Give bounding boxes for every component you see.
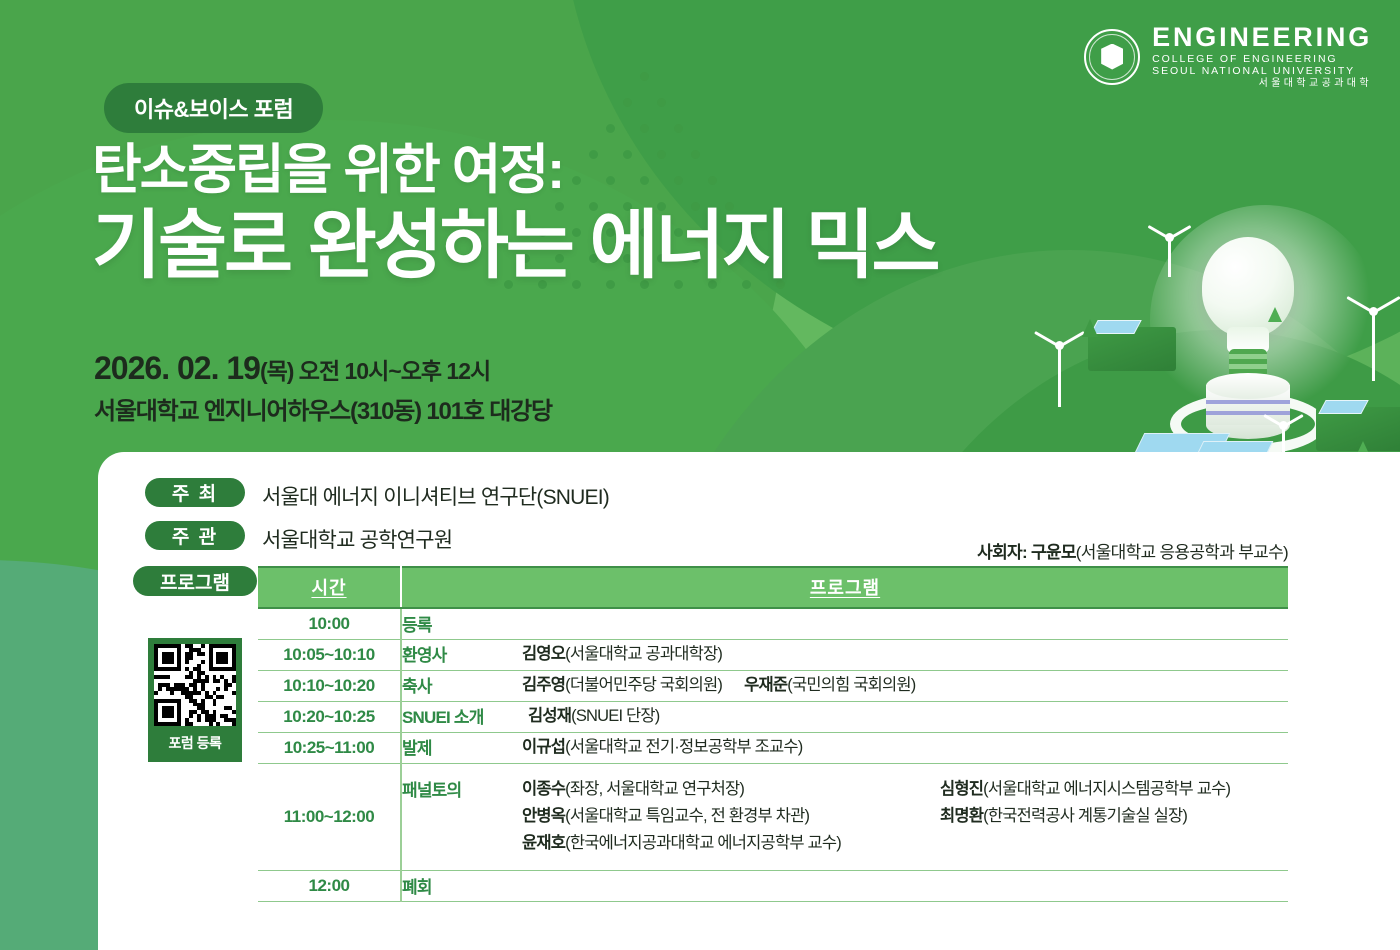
energy-illustration	[1020, 215, 1400, 460]
decorative-dot	[589, 150, 598, 159]
speaker-affiliation: (한국전력공사 계통기술실 실장)	[983, 807, 1187, 825]
speaker-entry: 이종수(좌장, 서울대학교 연구처장)	[522, 776, 940, 803]
speaker-name: 심형진	[940, 780, 983, 798]
decorative-dot	[606, 124, 615, 133]
speaker-affiliation: (더불어민주당 국회의원)	[565, 676, 722, 694]
event-poster: ENGINEERING COLLEGE OF ENGINEERING SEOUL…	[0, 0, 1400, 950]
row-program: 폐회	[401, 870, 1288, 901]
row-category: 폐회	[402, 873, 522, 898]
row-category: 패널토의	[402, 776, 522, 801]
table-row: 10:20~10:25SNUEI 소개김성재(SNUEI 단장)	[258, 701, 1288, 732]
decorative-dot	[674, 176, 683, 185]
header-time-text: 시간	[311, 578, 346, 598]
speaker-entry: 윤재호(한국에너지공과대학교 에너지공학부 교수)	[522, 830, 940, 857]
speaker-entry: 최명환(한국전력공사 계통기술실 실장)	[940, 803, 1288, 830]
program-table-head: 시간 프로그램	[258, 567, 1288, 608]
header-program-text: 프로그램	[810, 578, 880, 598]
speaker-affiliation: (서울대학교 공과대학장)	[565, 645, 722, 663]
row-speakers: 이종수(좌장, 서울대학교 연구처장)안병옥(서울대학교 특임교수, 전 환경부…	[522, 776, 1288, 856]
poster-title-line2: 기술로 완성하는 에너지 믹스	[92, 208, 938, 283]
event-datetime: 2026. 02. 19(목) 오전 10시~오후 12시	[94, 352, 490, 384]
program-label-badge: 프로그램	[133, 566, 257, 596]
speaker-affiliation: (서울대학교 전기·정보공학부 조교수)	[565, 738, 802, 756]
row-time: 12:00	[258, 870, 401, 901]
row-category: 축사	[402, 672, 522, 697]
row-speakers: 김성재(SNUEI 단장)	[528, 703, 1288, 730]
speaker-entry: 김주영(더불어민주당 국회의원)	[522, 672, 722, 699]
speaker-name: 이규섭	[522, 738, 565, 756]
speaker-entry: 이규섭(서울대학교 전기·정보공학부 조교수)	[522, 734, 803, 761]
row-program: 환영사김영오(서울대학교 공과대학장)	[401, 639, 1288, 670]
speaker-affiliation: (좌장, 서울대학교 연구처장)	[565, 780, 744, 798]
battery-container-icon	[1088, 327, 1176, 371]
decorative-dot	[640, 72, 649, 81]
speaker-entry: 우재준(국민의힘 국회의원)	[744, 672, 915, 699]
speaker-entry: 안병옥(서울대학교 특임교수, 전 환경부 차관)	[522, 803, 940, 830]
moderator-line: 사회자: 구윤모(서울대학교 응용공학과 부교수)	[977, 538, 1288, 563]
row-time: 10:00	[258, 608, 401, 639]
speaker-entry: 김영오(서울대학교 공과대학장)	[522, 641, 722, 668]
speaker-affiliation: (서울대학교 에너지시스템공학부 교수)	[983, 780, 1230, 798]
speaker-name: 김성재	[528, 707, 571, 725]
details-panel-filler	[1300, 452, 1400, 950]
speaker-name: 최명환	[940, 807, 983, 825]
decorative-dot	[657, 98, 666, 107]
table-row: 10:10~10:20축사김주영(더불어민주당 국회의원)우재준(국민의힘 국회…	[258, 670, 1288, 701]
qr-label: 포럼 등록	[169, 733, 222, 753]
row-program: 패널토의이종수(좌장, 서울대학교 연구처장)안병옥(서울대학교 특임교수, 전…	[401, 763, 1288, 870]
row-speakers: 김주영(더불어민주당 국회의원)우재준(국민의힘 국회의원)	[522, 672, 1288, 699]
row-speakers: 이규섭(서울대학교 전기·정보공학부 조교수)	[522, 734, 1288, 761]
row-category: SNUEI 소개	[402, 703, 528, 728]
row-time: 11:00~12:00	[258, 763, 401, 870]
row-program: 등록	[401, 608, 1288, 639]
speaker-name: 이종수	[522, 780, 565, 798]
decorative-dot	[572, 176, 581, 185]
moderator-name: 구윤모	[1031, 543, 1076, 562]
speaker-affiliation: (국민의힘 국회의원)	[787, 676, 915, 694]
pedestal-band-upper	[1206, 400, 1290, 404]
row-category: 발제	[402, 734, 522, 759]
table-row: 10:00등록	[258, 608, 1288, 639]
forum-series-badge: 이슈&보이스 포럼	[104, 83, 323, 133]
row-speakers: 김영오(서울대학교 공과대학장)	[522, 641, 1288, 668]
table-header-row: 시간 프로그램	[258, 567, 1288, 608]
row-time: 10:25~11:00	[258, 732, 401, 763]
row-time: 10:10~10:20	[258, 670, 401, 701]
speaker-entry: 김성재(SNUEI 단장)	[528, 703, 660, 730]
university-crest-icon	[1084, 29, 1140, 85]
speaker-entry: 심형진(서울대학교 에너지시스템공학부 교수)	[940, 776, 1288, 803]
decorative-dot	[657, 150, 666, 159]
decorative-dot	[640, 124, 649, 133]
host-label-badge: 주 최	[145, 478, 245, 507]
speaker-name: 안병옥	[522, 807, 565, 825]
table-row: 10:25~11:00발제이규섭(서울대학교 전기·정보공학부 조교수)	[258, 732, 1288, 763]
speaker-name: 우재준	[744, 676, 787, 694]
program-table-body: 10:00등록10:05~10:10환영사김영오(서울대학교 공과대학장)10:…	[258, 608, 1288, 901]
logo-main-text: ENGINEERING	[1152, 24, 1372, 51]
header-program: 프로그램	[401, 567, 1288, 608]
lightbulb-icon	[1202, 237, 1294, 337]
row-category: 환영사	[402, 641, 522, 666]
event-date: 2026. 02. 19	[94, 350, 260, 386]
pedestal-band-lower	[1206, 411, 1290, 415]
tree-icon	[1268, 307, 1282, 322]
row-program: SNUEI 소개김성재(SNUEI 단장)	[401, 701, 1288, 732]
speaker-affiliation: (SNUEI 단장)	[571, 707, 659, 725]
decorative-dot	[606, 176, 615, 185]
program-table: 시간 프로그램 10:00등록10:05~10:10환영사김영오(서울대학교 공…	[258, 566, 1288, 902]
logo-subtitle-en2: SEOUL NATIONAL UNIVERSITY	[1152, 66, 1372, 77]
speaker-affiliation: (서울대학교 특임교수, 전 환경부 차관)	[565, 807, 809, 825]
logo-subtitle-kr: 서울대학교공과대학	[1152, 79, 1372, 89]
registration-qr-block[interactable]: 포럼 등록	[148, 638, 242, 762]
speaker-name: 윤재호	[522, 834, 565, 852]
row-program: 축사김주영(더불어민주당 국회의원)우재준(국민의힘 국회의원)	[401, 670, 1288, 701]
panel-column-right: 심형진(서울대학교 에너지시스템공학부 교수)최명환(한국전력공사 계통기술실 …	[940, 776, 1288, 856]
panel-column-left: 이종수(좌장, 서울대학교 연구처장)안병옥(서울대학교 특임교수, 전 환경부…	[522, 776, 940, 856]
table-row: 11:00~12:00패널토의이종수(좌장, 서울대학교 연구처장)안병옥(서울…	[258, 763, 1288, 870]
decorative-dot	[674, 124, 683, 133]
header-time: 시간	[258, 567, 401, 608]
poster-title-line1: 탄소중립을 위한 여정:	[92, 143, 563, 197]
row-category: 등록	[402, 611, 522, 636]
row-time: 10:05~10:10	[258, 639, 401, 670]
decorative-dot	[623, 150, 632, 159]
row-program: 발제이규섭(서울대학교 전기·정보공학부 조교수)	[401, 732, 1288, 763]
qr-code-icon[interactable]	[154, 644, 236, 726]
speaker-affiliation: (한국에너지공과대학교 에너지공학부 교수)	[565, 834, 841, 852]
decorative-dot	[708, 176, 717, 185]
snu-engineering-logo: ENGINEERING COLLEGE OF ENGINEERING SEOUL…	[1084, 24, 1372, 89]
moderator-label: 사회자:	[977, 543, 1027, 562]
decorative-dot	[691, 150, 700, 159]
table-row: 12:00폐회	[258, 870, 1288, 901]
event-venue: 서울대학교 엔지니어하우스(310동) 101호 대강당	[94, 400, 552, 424]
logo-subtitle-en1: COLLEGE OF ENGINEERING	[1152, 54, 1372, 65]
tree-icon	[1082, 319, 1098, 337]
event-time: (목) 오전 10시~오후 12시	[260, 358, 490, 384]
speaker-name: 김영오	[522, 645, 565, 663]
moderator-affiliation: (서울대학교 응용공학과 부교수)	[1076, 543, 1288, 562]
organizer-value: 서울대학교 공학연구원	[262, 524, 452, 554]
row-time: 10:20~10:25	[258, 701, 401, 732]
table-row: 10:05~10:10환영사김영오(서울대학교 공과대학장)	[258, 639, 1288, 670]
organizer-label-badge: 주 관	[145, 521, 245, 550]
host-value: 서울대 에너지 이니셔티브 연구단(SNUEI)	[262, 481, 609, 511]
decorative-dot	[640, 176, 649, 185]
speaker-name: 김주영	[522, 676, 565, 694]
decorative-dot	[623, 98, 632, 107]
pedestal-top	[1206, 373, 1290, 399]
